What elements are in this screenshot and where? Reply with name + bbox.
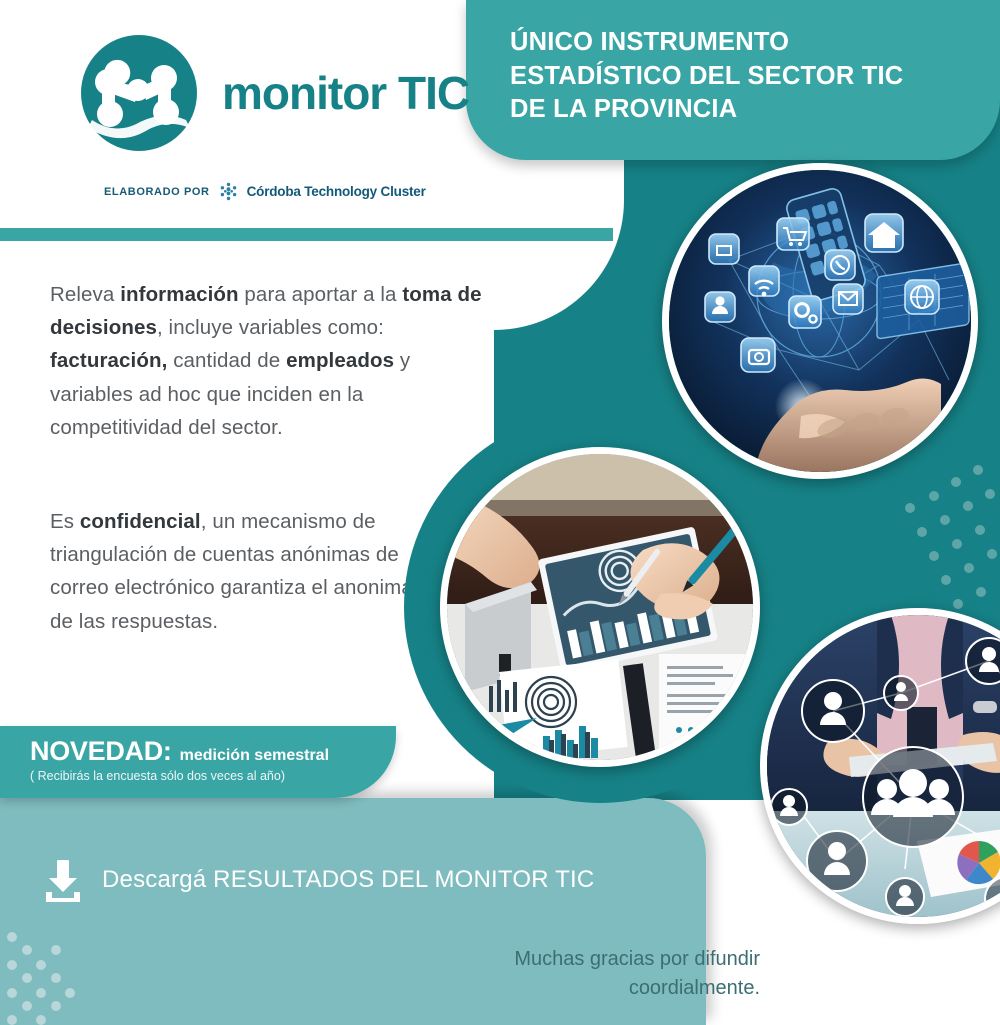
credit-organization: Córdoba Technology Cluster [247, 184, 426, 199]
paragraph-informacion: Releva información para aportar a la tom… [50, 278, 490, 444]
credit-line: ELABORADO POR Córdoba Technology Cluster [104, 182, 426, 201]
body-text: cantidad de [167, 349, 286, 372]
header-title-line1: ÚNICO INSTRUMENTO [510, 26, 980, 60]
data-analysis-charts-desk-photo [440, 447, 760, 767]
brand-logo: monitor TIC [78, 32, 469, 154]
accent-rule-bar [0, 228, 613, 241]
molecule-network-circle-logo-icon [78, 32, 200, 154]
header-title-line2: ESTADÍSTICO DEL SECTOR TIC [510, 60, 980, 94]
header-title-line3: DE LA PROVINCIA [510, 93, 980, 127]
emphasis-text: empleados [286, 349, 394, 372]
digital-technology-icons-hand-photo [662, 163, 978, 479]
body-text: Es [50, 510, 80, 533]
thanks-line2: coordialmente. [430, 974, 760, 1003]
brand-wordmark-light: monitor [222, 67, 386, 119]
download-icon[interactable] [42, 858, 84, 902]
emphasis-text: confidencial [80, 510, 201, 533]
thanks-message: Muchas gracias por difundir coordialment… [430, 945, 760, 1003]
body-text: para aportar a la [239, 283, 403, 306]
poster-root: ÚNICO INSTRUMENTO ESTADÍSTICO DEL SECTOR… [0, 0, 1000, 1025]
emphasis-text: información [120, 283, 238, 306]
cluster-nodes-icon [219, 182, 238, 201]
dot-grid-right [900, 460, 1000, 630]
download-results-link[interactable]: Descargá RESULTADOS DEL MONITOR TIC [42, 858, 594, 902]
dot-grid-bottom-left [6, 925, 126, 1025]
thanks-line1: Muchas gracias por difundir [430, 945, 760, 974]
brand-wordmark: monitor TIC [222, 70, 469, 116]
novedad-note: ( Recibirás la encuesta sólo dos veces a… [30, 769, 329, 783]
credit-prefix: ELABORADO POR [104, 186, 210, 198]
novedad-content: NOVEDAD: medición semestral ( Recibirás … [30, 736, 329, 783]
body-text: , incluye variables como: [157, 316, 384, 339]
header-title: ÚNICO INSTRUMENTO ESTADÍSTICO DEL SECTOR… [510, 26, 980, 127]
brand-wordmark-bold: TIC [398, 67, 469, 119]
novedad-label: NOVEDAD: [30, 736, 172, 767]
paragraph-confidencial: Es confidencial, un mecanismo de triangu… [50, 505, 450, 638]
download-label[interactable]: Descargá RESULTADOS DEL MONITOR TIC [102, 866, 594, 894]
novedad-value: medición semestral [180, 747, 329, 765]
emphasis-text: facturación, [50, 349, 167, 372]
body-text: Releva [50, 283, 120, 306]
